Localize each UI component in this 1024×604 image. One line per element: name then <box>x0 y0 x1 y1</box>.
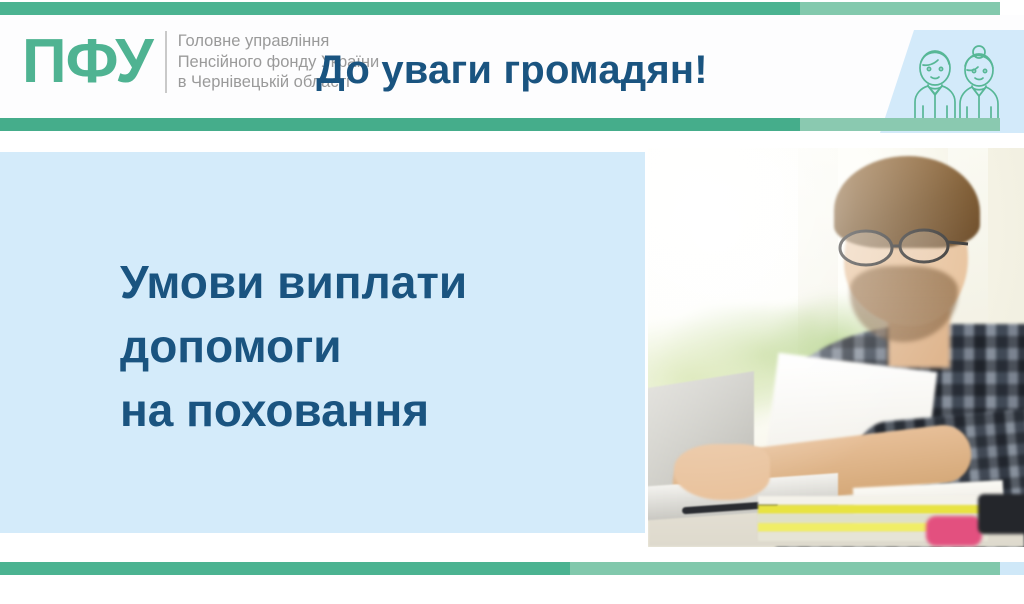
pension-fund-announcement-poster: ПФУ Головне управління Пенсійного фонду … <box>0 0 1024 604</box>
top-green-rule-right <box>800 2 1000 15</box>
bottom-green-rule-right <box>570 562 1000 575</box>
bottom-green-rule-left <box>0 562 570 575</box>
dark-object <box>978 494 1024 534</box>
top-green-rule-left <box>0 2 800 15</box>
poster-title-line-1: Умови виплати <box>120 250 640 314</box>
poster-title-line-3: на поховання <box>120 378 640 442</box>
header-divider-rule-right <box>800 118 1000 131</box>
headline-attention-citizens: До уваги громадян! <box>0 48 1024 93</box>
header-divider-rule-left <box>0 118 800 131</box>
man-typing-laptop-photo <box>648 148 1024 547</box>
header-band: ПФУ Головне управління Пенсійного фонду … <box>0 15 1024 118</box>
eyeglasses <box>824 224 972 268</box>
typing-hand <box>674 444 770 500</box>
two-seniors-icon <box>904 44 1008 124</box>
poster-title: Умови виплати допомоги на поховання <box>120 250 640 442</box>
bottom-blue-strip <box>1000 562 1024 575</box>
poster-title-line-2: допомоги <box>120 314 640 378</box>
pink-object <box>926 516 982 546</box>
